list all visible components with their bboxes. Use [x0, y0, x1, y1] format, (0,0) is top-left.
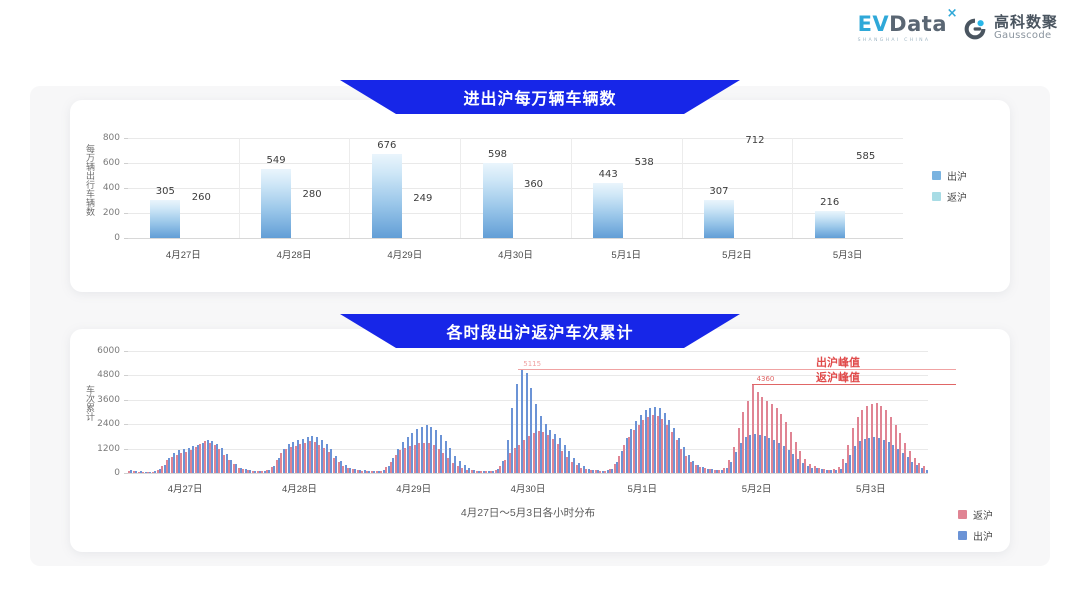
chart1-bar-back	[851, 165, 881, 238]
chart2-y-tickmark	[124, 375, 128, 376]
chart1-legend-swatch	[932, 171, 941, 180]
chart1-bar-back	[297, 203, 327, 238]
chart2-legend-label: 返沪	[973, 507, 993, 522]
gausscode-text: 高科数聚 Gausscode	[994, 15, 1058, 41]
chart2-y-tick: 2400	[78, 419, 120, 429]
chart1-x-tick: 5月2日	[722, 247, 752, 261]
chart1-bar-back	[408, 207, 438, 238]
chart1-bar-out	[593, 183, 623, 238]
chart1-bar-value: 538	[635, 157, 654, 168]
chart2-bar-out	[926, 470, 928, 473]
evdata-tagline: SHANGHAI CHINA	[858, 38, 931, 43]
bar-chart-vehicles: 每万辆出行车辆数02004006008003052604月27日5492804月…	[70, 100, 1010, 292]
chart1-legend-item: 返沪	[932, 189, 967, 204]
chart1-group-separator	[571, 138, 572, 238]
chart1-bar-value: 260	[192, 192, 211, 203]
chart2-y-tick: 6000	[78, 346, 120, 356]
gausscode-en-name: Gausscode	[994, 31, 1058, 42]
chart2-y-tickmark	[124, 424, 128, 425]
chart2-x-tick: 4月27日	[168, 481, 203, 495]
chart2-legend-swatch	[958, 510, 967, 519]
chart2-y-tick: 1200	[78, 444, 120, 454]
chart1-x-tick: 4月28日	[277, 247, 312, 261]
chart2-x-tick: 4月29日	[396, 481, 431, 495]
chart1-legend-item: 出沪	[932, 168, 967, 183]
chart1-group-separator	[239, 138, 240, 238]
chart1-bar-value: 598	[488, 149, 507, 160]
evdata-logo: EVData× SHANGHAI CHINA	[858, 14, 947, 43]
chart1-bar-value: 676	[377, 140, 396, 151]
chart1-bar-out	[815, 211, 845, 238]
chart2-x-tick: 4月30日	[511, 481, 546, 495]
chart1-bar-back	[519, 193, 549, 238]
evdata-suffix: Data	[889, 12, 947, 36]
chart1-group-separator	[460, 138, 461, 238]
chart1-y-tick: 0	[80, 233, 120, 243]
chart2-y-tickmark	[124, 351, 128, 352]
chart1-gridline	[128, 138, 903, 139]
chart1-bar-out	[372, 154, 402, 239]
chart1-y-tickmark	[124, 238, 128, 239]
chart2-x-axis-caption: 4月27日～5月3日各小时分布	[461, 505, 595, 520]
chart1-bar-value: 360	[524, 179, 543, 190]
chart1-bar-value: 307	[709, 186, 728, 197]
chart2-legend-swatch	[958, 531, 967, 540]
chart2-y-tick: 0	[78, 468, 120, 478]
chart2-peak-value-out: 5115	[523, 360, 541, 368]
chart2-gridline	[128, 351, 928, 352]
slide-page: EVData× SHANGHAI CHINA 高科数聚 Gausscode 每万…	[0, 0, 1080, 608]
brand-header: EVData× SHANGHAI CHINA 高科数聚 Gausscode	[858, 14, 1058, 43]
chart1-gridline	[128, 238, 903, 239]
evdata-wordmark: EVData×	[858, 14, 947, 35]
chart1-title: 进出沪每万辆车辆数	[463, 85, 616, 109]
chart1-x-tick: 5月3日	[833, 247, 863, 261]
chart1-gridline	[128, 213, 903, 214]
chart1-legend: 出沪返沪	[932, 168, 967, 204]
evdata-prefix: EV	[858, 12, 890, 36]
chart1-bar-out	[483, 163, 513, 238]
chart2-peak-label-out: 出沪峰值	[816, 354, 860, 370]
chart1-gridline	[128, 163, 903, 164]
chart2-x-tick: 5月3日	[856, 481, 886, 495]
chart1-legend-label: 出沪	[947, 168, 967, 183]
chart2-x-tick: 4月28日	[282, 481, 317, 495]
chart2-y-tick: 4800	[78, 370, 120, 380]
chart1-title-ribbon: 进出沪每万辆车辆数	[340, 80, 740, 114]
chart1-y-tickmark	[124, 213, 128, 214]
chart2-peak-line-out	[518, 369, 956, 370]
chart2-gridline	[128, 400, 928, 401]
chart2-legend-item: 出沪	[958, 528, 993, 543]
chart2-y-tickmark	[124, 449, 128, 450]
gausscode-logo-mark	[963, 17, 987, 41]
chart1-bar-out	[704, 200, 734, 238]
chart1-y-tick: 200	[80, 208, 120, 218]
chart1-bar-back	[629, 171, 659, 238]
chart1-x-tick: 4月27日	[166, 247, 201, 261]
chart1-bar-value: 216	[820, 197, 839, 208]
gausscode-cn-name: 高科数聚	[994, 15, 1058, 31]
chart2-y-tickmark	[124, 473, 128, 474]
chart1-bar-value: 249	[413, 193, 432, 204]
chart2-legend: 返沪出沪	[958, 507, 993, 543]
chart1-legend-swatch	[932, 192, 941, 201]
chart2-x-tick: 5月2日	[742, 481, 772, 495]
chart1-x-tick: 5月1日	[611, 247, 641, 261]
chart2-gridline	[128, 375, 928, 376]
chart2-gridline	[128, 473, 928, 474]
chart1-group-separator	[682, 138, 683, 238]
chart1-y-tick: 800	[80, 133, 120, 143]
evdata-x-icon: ×	[947, 7, 958, 20]
chart1-bar-value: 443	[599, 169, 618, 180]
chart1-bar-value: 585	[856, 151, 875, 162]
chart2-title: 各时段出沪返沪车次累计	[446, 319, 633, 343]
chart-card-hourly: 车次累计0120024003600480060004月27日4月28日4月29日…	[70, 329, 1010, 552]
chart2-y-tick: 3600	[78, 395, 120, 405]
gausscode-logo: 高科数聚 Gausscode	[963, 15, 1058, 41]
chart2-x-tick: 5月1日	[627, 481, 657, 495]
chart1-y-tick: 400	[80, 183, 120, 193]
chart1-bar-back	[186, 206, 216, 239]
chart1-bar-value: 549	[267, 155, 286, 166]
chart2-peak-label-back: 返沪峰值	[816, 369, 860, 385]
chart1-x-tick: 4月29日	[387, 247, 422, 261]
chart1-group-separator	[792, 138, 793, 238]
chart2-legend-item: 返沪	[958, 507, 993, 522]
chart1-y-tickmark	[124, 163, 128, 164]
chart1-y-tickmark	[124, 138, 128, 139]
chart2-title-ribbon: 各时段出沪返沪车次累计	[340, 314, 740, 348]
chart1-x-tick: 4月30日	[498, 247, 533, 261]
chart1-group-separator	[349, 138, 350, 238]
chart2-y-tickmark	[124, 400, 128, 401]
chart2-gridline	[128, 424, 928, 425]
chart1-bar-value: 280	[303, 189, 322, 200]
chart1-bar-value: 305	[156, 186, 175, 197]
chart1-bar-value: 712	[745, 135, 764, 146]
chart1-y-tickmark	[124, 188, 128, 189]
chart1-y-tick: 600	[80, 158, 120, 168]
chart1-bar-out	[261, 169, 291, 238]
chart1-legend-label: 返沪	[947, 189, 967, 204]
chart1-gridline	[128, 188, 903, 189]
chart1-bar-out	[150, 200, 180, 238]
chart-card-vehicles: 每万辆出行车辆数02004006008003052604月27日5492804月…	[70, 100, 1010, 292]
chart2-legend-label: 出沪	[973, 528, 993, 543]
chart2-peak-value-back: 4360	[757, 375, 775, 383]
chart1-bar-back	[740, 149, 770, 238]
bar-chart-hourly: 车次累计0120024003600480060004月27日4月28日4月29日…	[70, 329, 1010, 552]
